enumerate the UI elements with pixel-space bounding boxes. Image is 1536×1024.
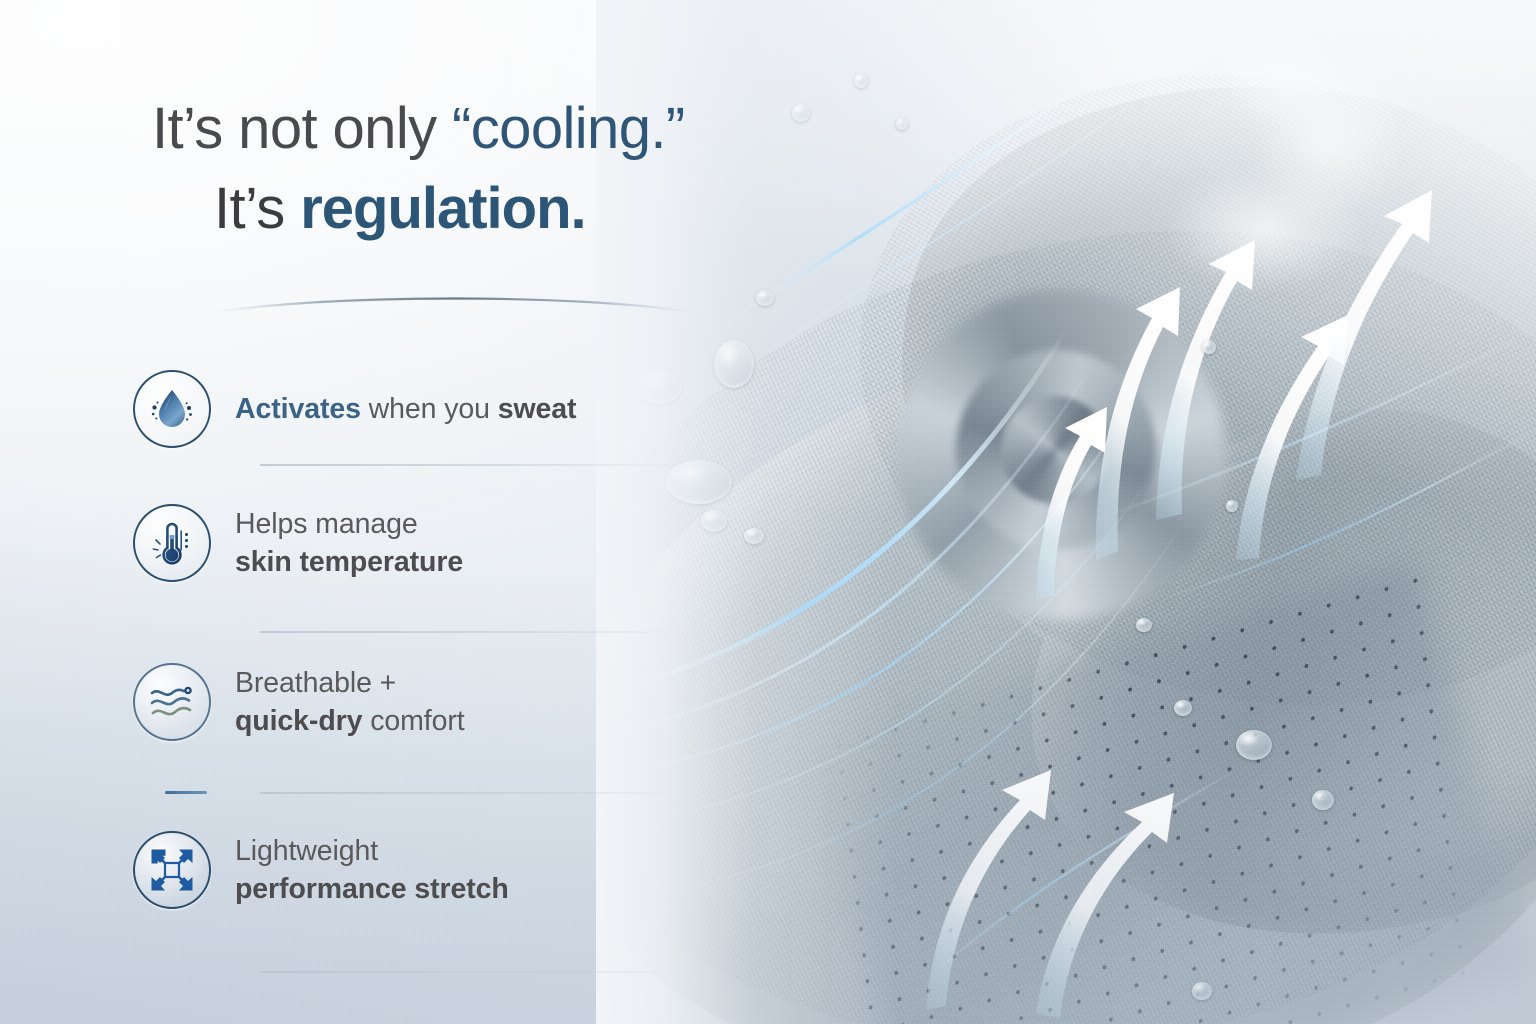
stretch-arrows-icon [133, 831, 211, 909]
airflow-waves-icon [133, 663, 211, 741]
feature-4-line-1: Lightweight [235, 832, 509, 870]
feature-2-line-1: Helps manage [235, 505, 463, 543]
feature-4-line-2: performance stretch [235, 873, 509, 905]
thermometer-icon [133, 504, 211, 582]
headline-divider-arc [214, 292, 694, 318]
feature-item-stretch[interactable]: Lightweight performance stretch [0, 809, 720, 979]
feature-1-seg-1: Activates [235, 393, 361, 425]
headline-line-1: It’s not only “cooling.” [152, 100, 792, 158]
feature-divider [260, 792, 680, 794]
feature-3-line-2-rest: comfort [362, 705, 464, 737]
headline-block: It’s not only “cooling.” It’s regulation… [152, 100, 792, 238]
feature-item-skin-temperature[interactable]: Helps manage skin temperature [0, 488, 720, 649]
feature-list: Activates when you sweat [0, 360, 720, 979]
feature-text-skin-temperature: Helps manage skin temperature [235, 505, 463, 581]
feature-divider [260, 464, 680, 466]
marketing-graphic: It’s not only “cooling.” It’s regulation… [0, 0, 1536, 1024]
feature-1-seg-3: sweat [498, 393, 577, 425]
feature-text-activates: Activates when you sweat [235, 390, 576, 428]
feature-text-stretch: Lightweight performance stretch [235, 832, 509, 908]
feature-item-activates[interactable]: Activates when you sweat [0, 360, 720, 488]
headline-line-2: It’s regulation. [214, 180, 792, 238]
headline-line-1-quoted: “cooling.” [452, 96, 685, 161]
feature-text-breathable: Breathable + quick-dry comfort [235, 664, 465, 740]
headline-line-1-plain: It’s not only [152, 96, 452, 161]
feature-divider [260, 971, 680, 973]
feature-3-line-2-bold: quick-dry [235, 705, 362, 737]
feature-divider [260, 631, 680, 633]
feature-item-breathable[interactable]: Breathable + quick-dry comfort [0, 649, 720, 809]
headline-line-2-plain: It’s [214, 176, 300, 241]
content-panel: It’s not only “cooling.” It’s regulation… [0, 0, 800, 1024]
headline-line-2-bold: regulation. [300, 176, 585, 241]
feature-accent-tick [165, 791, 207, 794]
feature-3-line-1: Breathable + [235, 664, 465, 702]
water-droplet-icon [133, 370, 211, 448]
feature-2-line-2: skin temperature [235, 546, 463, 578]
feature-1-seg-2: when you [361, 393, 498, 425]
